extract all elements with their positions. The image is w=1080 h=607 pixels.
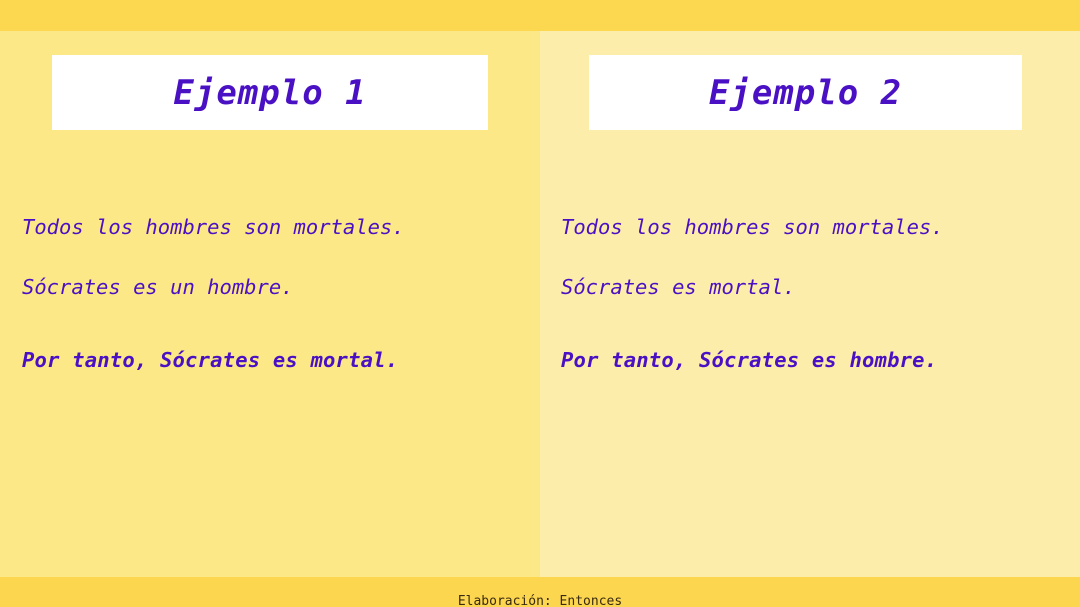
argument-block-ejemplo-2: Todos los hombres son mortales. Sócrates… bbox=[561, 217, 1061, 371]
premise-1-ejemplo-1: Todos los hombres son mortales. bbox=[22, 217, 522, 238]
top-accent-band bbox=[0, 0, 1080, 31]
title-plaque-ejemplo-2: Ejemplo 2 bbox=[589, 55, 1022, 130]
argument-block-ejemplo-1: Todos los hombres son mortales. Sócrates… bbox=[22, 217, 522, 371]
title-plaque-ejemplo-1: Ejemplo 1 bbox=[52, 55, 488, 130]
conclusion-ejemplo-2: Por tanto, Sócrates es hombre. bbox=[561, 350, 1061, 371]
panel-ejemplo-2: Ejemplo 2 Todos los hombres son mortales… bbox=[540, 31, 1080, 577]
footer-band: Elaboración: Entonces bbox=[0, 577, 1080, 607]
panel-title-ejemplo-2: Ejemplo 2 bbox=[709, 73, 902, 113]
panel-title-ejemplo-1: Ejemplo 1 bbox=[173, 73, 366, 113]
slide-canvas: Ejemplo 1 Todos los hombres son mortales… bbox=[0, 0, 1080, 607]
panel-ejemplo-1: Ejemplo 1 Todos los hombres son mortales… bbox=[0, 31, 540, 577]
premise-2-ejemplo-2: Sócrates es mortal. bbox=[561, 277, 1061, 298]
conclusion-ejemplo-1: Por tanto, Sócrates es mortal. bbox=[22, 350, 522, 371]
footer-caption: Elaboración: Entonces bbox=[0, 594, 1080, 607]
premise-1-ejemplo-2: Todos los hombres son mortales. bbox=[561, 217, 1061, 238]
comparison-panels: Ejemplo 1 Todos los hombres son mortales… bbox=[0, 31, 1080, 577]
premise-2-ejemplo-1: Sócrates es un hombre. bbox=[22, 277, 522, 298]
